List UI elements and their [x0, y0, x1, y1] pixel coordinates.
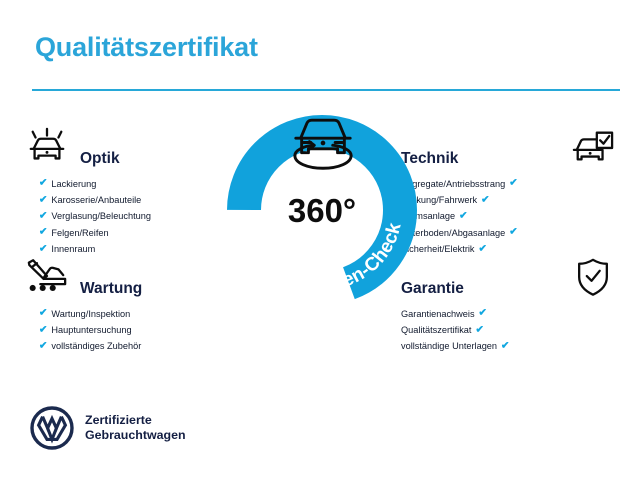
section-optik-header: Optik	[24, 126, 239, 168]
list-item: ✔Karosserie/Anbauteile	[39, 192, 239, 208]
section-garantie-heading-wrap: Garantie	[401, 280, 560, 298]
list-item-label: Verglasung/Beleuchtung	[51, 212, 151, 221]
section-optik-title: Optik	[80, 150, 120, 170]
list-item: ✔Hauptuntersuchung	[39, 322, 239, 338]
shield-check-icon	[570, 256, 616, 298]
check-icon: ✔	[39, 228, 47, 238]
list-item-label: Innenraum	[51, 245, 95, 254]
section-garantie-list: ✔Garantienachweis ✔Qualitätszertifikat ✔…	[401, 306, 616, 355]
check-icon: ✔	[509, 228, 517, 238]
list-item: ✔Garantienachweis	[401, 306, 612, 322]
list-item-label: vollständiges Zubehör	[51, 342, 141, 351]
list-item-label: Felgen/Reifen	[51, 229, 108, 238]
list-item: ✔Lackierung	[39, 176, 239, 192]
list-item-label: Lackierung	[51, 180, 96, 189]
list-item: ✔vollständige Unterlagen	[401, 339, 612, 355]
list-item: ✔vollständiges Zubehör	[39, 339, 239, 355]
check-icon: ✔	[39, 244, 47, 254]
brand-text: ZertifizierteGebrauchtwagen	[85, 413, 186, 443]
wrench-car-icon	[24, 256, 70, 298]
brand-line-1: Zertifizierte	[85, 413, 152, 427]
certificate-page: Qualitätszertifikat Optik	[0, 0, 640, 480]
section-technik: Technik ✔Aggregate/Antriebsstrang ✔Lenku…	[401, 126, 616, 258]
section-optik: Optik ✔Lackierung ✔Karosserie/Anbauteile…	[24, 126, 239, 258]
check-icon: ✔	[459, 211, 467, 221]
list-item: ✔Lenkung/Fahrwerk	[401, 192, 612, 208]
section-wartung-header: Wartung	[24, 256, 239, 298]
section-wartung: Wartung ✔Wartung/Inspektion ✔Hauptunters…	[24, 256, 239, 355]
list-item-label: Karosserie/Anbauteile	[51, 196, 141, 205]
check-icon: ✔	[39, 211, 47, 221]
list-item-label: Hauptuntersuchung	[51, 326, 131, 335]
section-wartung-heading-wrap: Wartung	[80, 280, 239, 298]
check-icon: ✔	[479, 244, 487, 254]
badge-center-label: 360°	[288, 192, 356, 229]
list-item-label: Wartung/Inspektion	[51, 310, 130, 319]
check-icon: ✔	[509, 179, 517, 189]
list-item: ✔Unterboden/Abgasanlage	[401, 225, 612, 241]
list-item: ✔Wartung/Inspektion	[39, 306, 239, 322]
badge-360-gebrauchtwagen-check: Gebrauchtwagen-Check 360°	[222, 110, 422, 315]
check-icon: ✔	[39, 179, 47, 189]
check-icon: ✔	[39, 195, 47, 205]
section-wartung-title: Wartung	[80, 280, 142, 300]
check-icon: ✔	[39, 341, 47, 351]
list-item-label: Qualitätszertifikat	[401, 326, 471, 335]
list-item: ✔Verglasung/Beleuchtung	[39, 209, 239, 225]
check-icon: ✔	[501, 341, 509, 351]
brand-line-2: Gebrauchtwagen	[85, 428, 186, 442]
section-technik-heading-wrap: Technik	[401, 150, 560, 168]
section-wartung-list: ✔Wartung/Inspektion ✔Hauptuntersuchung ✔…	[24, 306, 239, 355]
header-divider	[32, 89, 620, 91]
page-title: Qualitätszertifikat	[35, 32, 258, 63]
section-technik-header: Technik	[401, 126, 616, 168]
section-optik-list: ✔Lackierung ✔Karosserie/Anbauteile ✔Verg…	[24, 176, 239, 258]
check-icon: ✔	[475, 325, 483, 335]
check-icon: ✔	[39, 309, 47, 319]
section-optik-heading-wrap: Optik	[80, 150, 239, 168]
check-icon: ✔	[479, 309, 487, 319]
section-technik-list: ✔Aggregate/Antriebsstrang ✔Lenkung/Fahrw…	[401, 176, 616, 258]
list-item: ✔Felgen/Reifen	[39, 225, 239, 241]
car-shine-icon	[24, 126, 70, 168]
section-garantie: Garantie ✔Garantienachweis ✔Qualitätszer…	[401, 256, 616, 355]
car-checkbox-icon	[570, 126, 616, 168]
list-item: ✔Bremsanlage	[401, 209, 612, 225]
check-icon: ✔	[481, 195, 489, 205]
car-front-rotate-icon	[284, 110, 362, 176]
list-item: ✔Qualitätszertifikat	[401, 322, 612, 338]
volkswagen-logo	[30, 406, 74, 450]
brand-lockup: ZertifizierteGebrauchtwagen	[30, 406, 186, 450]
check-icon: ✔	[39, 325, 47, 335]
list-item: ✔Aggregate/Antriebsstrang	[401, 176, 612, 192]
list-item-label: vollständige Unterlagen	[401, 342, 497, 351]
vw-logo-svg	[30, 406, 74, 450]
section-garantie-header: Garantie	[401, 256, 616, 298]
